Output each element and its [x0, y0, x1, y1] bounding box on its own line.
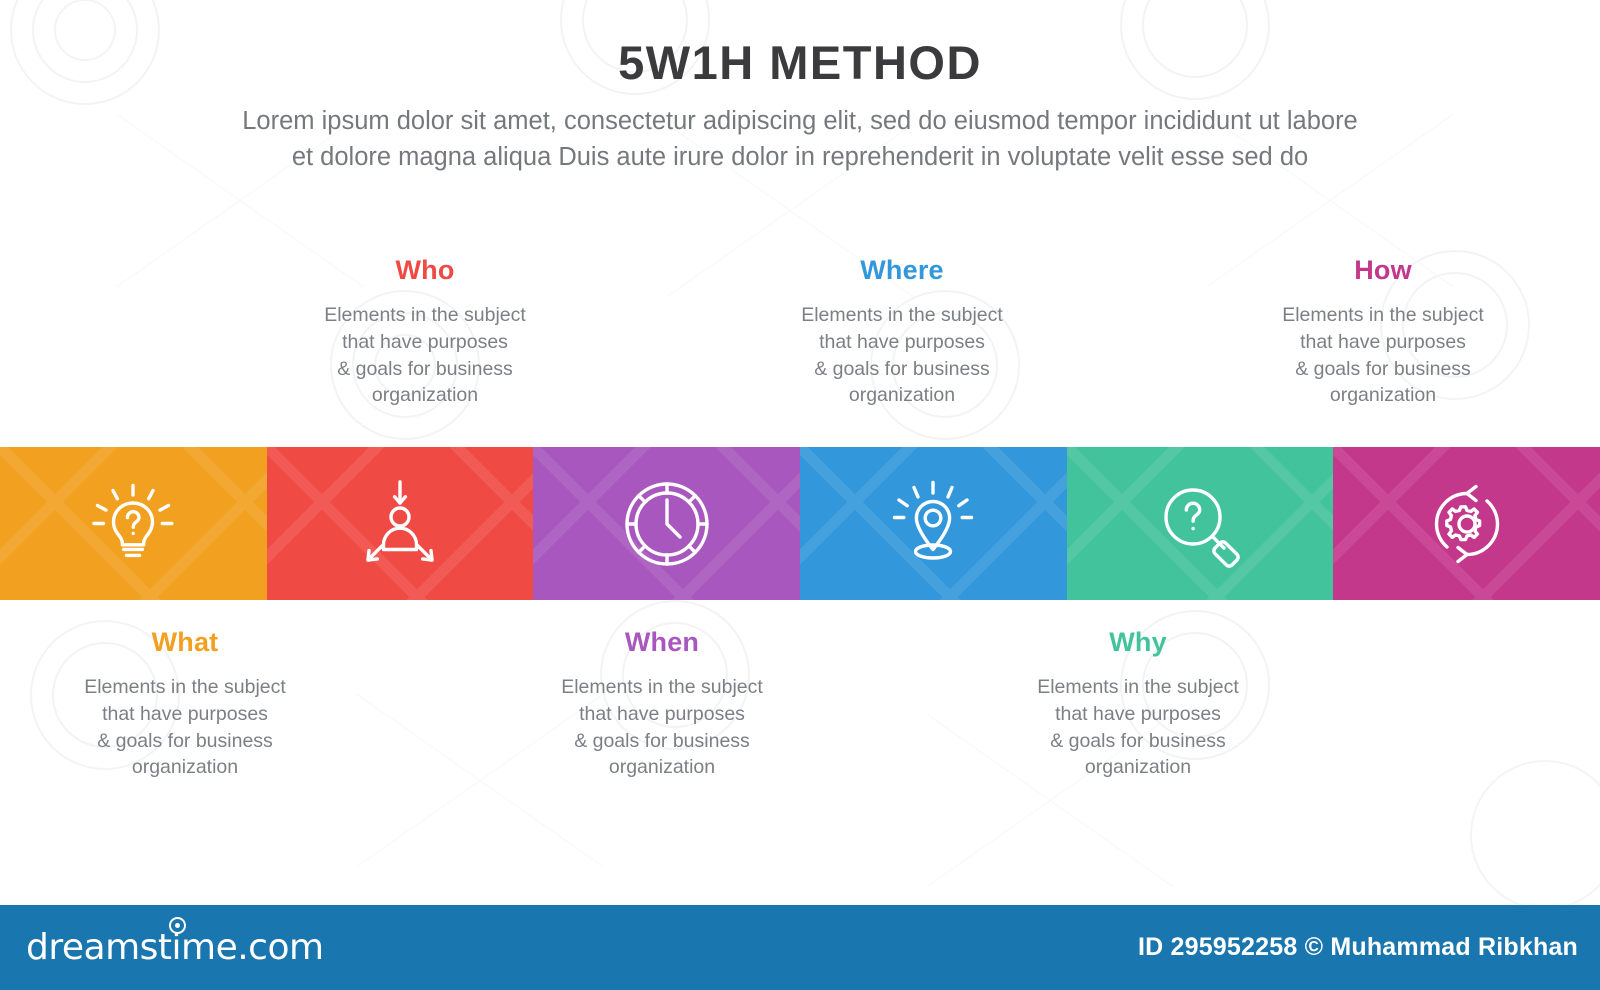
segment-how[interactable] — [1333, 447, 1600, 600]
caption-desc-line: & goals for business — [529, 728, 795, 755]
caption-title-when: When — [529, 628, 795, 658]
caption-desc-line: Elements in the subject — [292, 302, 558, 329]
magnifier-question-icon — [1152, 476, 1248, 572]
caption-desc-line: organization — [529, 754, 795, 781]
caption-desc-line: that have purposes — [769, 329, 1035, 356]
caption-desc-line: that have purposes — [529, 701, 795, 728]
caption-desc-line: that have purposes — [1250, 329, 1516, 356]
dreamstime-logo[interactable]: dreamstime.com — [26, 930, 324, 966]
clock-icon — [617, 474, 717, 574]
caption-desc-what: Elements in the subject that have purpos… — [52, 674, 318, 782]
caption-desc-line: organization — [1250, 382, 1516, 409]
gear-refresh-icon — [1417, 474, 1517, 574]
caption-desc-line: Elements in the subject — [1250, 302, 1516, 329]
caption-desc-line: that have purposes — [52, 701, 318, 728]
caption-desc-who: Elements in the subject that have purpos… — [292, 302, 558, 410]
caption-desc-line: & goals for business — [292, 356, 558, 383]
caption-desc-line: organization — [292, 382, 558, 409]
location-pin-icon — [885, 476, 981, 572]
page-subtitle-line-1: Lorem ipsum dolor sit amet, consectetur … — [75, 104, 1525, 139]
segment-where[interactable] — [800, 447, 1067, 600]
image-credit: ID 295952258 © Muhammad Ribkhan — [1138, 933, 1578, 962]
caption-title-who: Who — [292, 256, 558, 286]
caption-desc-line: Elements in the subject — [529, 674, 795, 701]
page-subtitle: Lorem ipsum dolor sit amet, consectetur … — [75, 104, 1525, 174]
caption-desc-line: organization — [769, 382, 1035, 409]
page-title: 5W1H METHOD — [0, 38, 1600, 87]
caption-desc-line: & goals for business — [52, 728, 318, 755]
person-arrows-icon — [352, 476, 448, 572]
spiral-logo-icon — [169, 917, 186, 934]
caption-where: Where Elements in the subject that have … — [769, 256, 1035, 409]
caption-desc-how: Elements in the subject that have purpos… — [1250, 302, 1516, 410]
brand-name: dreamstime.com — [26, 930, 324, 966]
caption-desc-line: organization — [52, 754, 318, 781]
caption-desc-line: that have purposes — [1005, 701, 1271, 728]
caption-desc-line: that have purposes — [292, 329, 558, 356]
caption-desc-why: Elements in the subject that have purpos… — [1005, 674, 1271, 782]
caption-how: How Elements in the subject that have pu… — [1250, 256, 1516, 409]
caption-desc-line: & goals for business — [1005, 728, 1271, 755]
infographic-page: 5W1H METHOD Lorem ipsum dolor sit amet, … — [0, 0, 1600, 990]
caption-title-how: How — [1250, 256, 1516, 286]
caption-title-what: What — [52, 628, 318, 658]
caption-what: What Elements in the subject that have p… — [52, 628, 318, 781]
caption-desc-when: Elements in the subject that have purpos… — [529, 674, 795, 782]
caption-title-where: Where — [769, 256, 1035, 286]
page-subtitle-line-2: et dolore magna aliqua Duis aute irure d… — [75, 140, 1525, 175]
segment-what[interactable] — [0, 447, 267, 600]
caption-desc-where: Elements in the subject that have purpos… — [769, 302, 1035, 410]
caption-why: Why Elements in the subject that have pu… — [1005, 628, 1271, 781]
page-header: 5W1H METHOD Lorem ipsum dolor sit amet, … — [0, 0, 1600, 175]
caption-desc-line: Elements in the subject — [769, 302, 1035, 329]
caption-desc-line: organization — [1005, 754, 1271, 781]
caption-desc-line: & goals for business — [1250, 356, 1516, 383]
caption-title-why: Why — [1005, 628, 1271, 658]
color-bar — [0, 447, 1600, 600]
caption-when: When Elements in the subject that have p… — [529, 628, 795, 781]
caption-desc-line: Elements in the subject — [52, 674, 318, 701]
segment-why[interactable] — [1067, 447, 1334, 600]
lightbulb-question-icon — [85, 476, 181, 572]
caption-desc-line: & goals for business — [769, 356, 1035, 383]
segment-who[interactable] — [267, 447, 534, 600]
caption-desc-line: Elements in the subject — [1005, 674, 1271, 701]
caption-who: Who Elements in the subject that have pu… — [292, 256, 558, 409]
segment-when[interactable] — [533, 447, 800, 600]
footer-bar: dreamstime.com ID 295952258 © Muhammad R… — [0, 905, 1600, 990]
